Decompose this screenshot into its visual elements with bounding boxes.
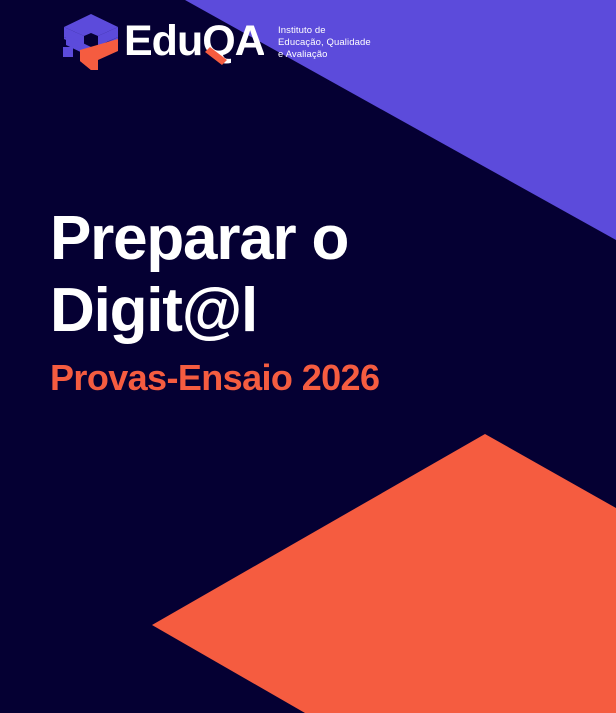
eduqa-cube-logo-icon bbox=[60, 13, 122, 71]
svg-text:EduQA: EduQA bbox=[124, 17, 264, 65]
title-block: Preparar o Digit@l Provas-Ensaio 2026 bbox=[50, 203, 570, 399]
eduqa-wordmark: EduQA bbox=[124, 15, 264, 69]
cover-page: EduQA Instituto de Educação, Qualidade e… bbox=[0, 0, 616, 713]
page-title: Preparar o Digit@l bbox=[50, 203, 410, 347]
logo-lockup: EduQA Instituto de Educação, Qualidade e… bbox=[60, 13, 371, 71]
page-subtitle: Provas-Ensaio 2026 bbox=[50, 357, 570, 399]
logo-tagline: Instituto de Educação, Qualidade e Avali… bbox=[278, 23, 371, 62]
